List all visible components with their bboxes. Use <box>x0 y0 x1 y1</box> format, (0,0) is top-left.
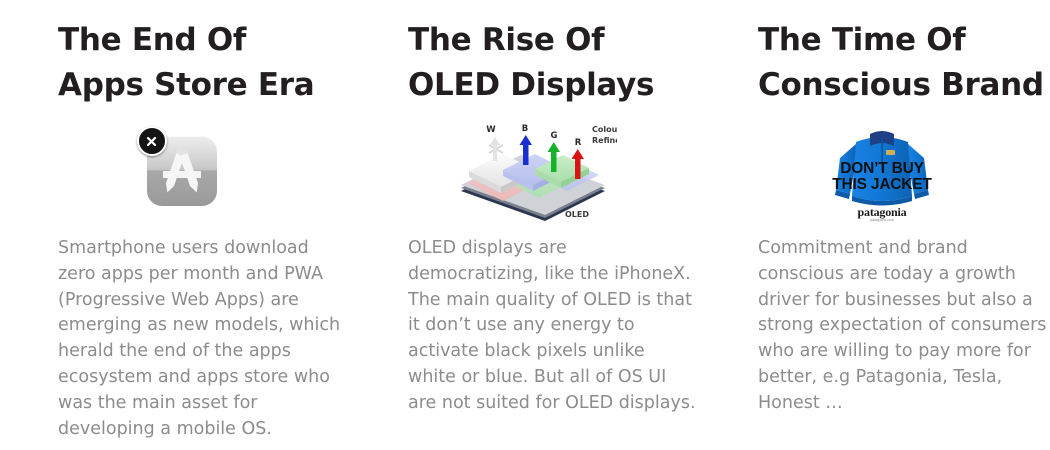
card-media-2: W B G R Colour Refiner OLED <box>408 116 700 226</box>
card-conscious-brand: The Time Of Conscious Brand <box>700 0 1050 442</box>
card-media-3: DON’T BUY THIS JACKET patagonia patagoni… <box>758 116 1050 226</box>
card-body-1: Smartphone users download zero apps per … <box>58 226 346 442</box>
card-apps-store-era: The End Of Apps Store Era <box>0 0 350 442</box>
ad-headline-line2: THIS JACKET <box>832 176 932 193</box>
card-media-1 <box>58 116 350 226</box>
oled-label-refiner-line2: Refiner <box>592 136 617 145</box>
oled-label-refiner-line1: Colour <box>592 125 617 134</box>
card-body-3: Commitment and brand conscious are today… <box>758 226 1050 417</box>
card-body-2: OLED displays are democratizing, like th… <box>408 226 696 417</box>
oled-label-white: W <box>486 125 496 135</box>
patagonia-logo-subtext: patagonia.com <box>870 218 894 222</box>
slide-root: The End Of Apps Store Era <box>0 0 1050 450</box>
close-x-icon[interactable] <box>137 126 167 156</box>
card-title-2: The Rise Of OLED Displays <box>408 0 700 108</box>
oled-subpixel-diagram: W B G R Colour Refiner OLED <box>447 119 617 224</box>
app-store-icon-with-delete-badge <box>147 136 217 206</box>
oled-label-base: OLED <box>565 210 589 219</box>
oled-label-red: R <box>574 138 581 148</box>
three-column-layout: The End Of Apps Store Era <box>0 0 1050 442</box>
card-oled-displays: The Rise Of OLED Displays <box>350 0 700 442</box>
oled-label-green: G <box>550 131 557 141</box>
patagonia-logo-text: patagonia <box>857 205 906 219</box>
oled-label-blue: B <box>521 124 527 134</box>
card-title-1: The End Of Apps Store Era <box>58 0 350 108</box>
card-title-3: The Time Of Conscious Brand <box>758 0 1050 108</box>
ad-headline-line1: DON’T BUY <box>840 160 924 177</box>
patagonia-dont-buy-this-jacket-ad: DON’T BUY THIS JACKET patagonia patagoni… <box>826 118 938 224</box>
